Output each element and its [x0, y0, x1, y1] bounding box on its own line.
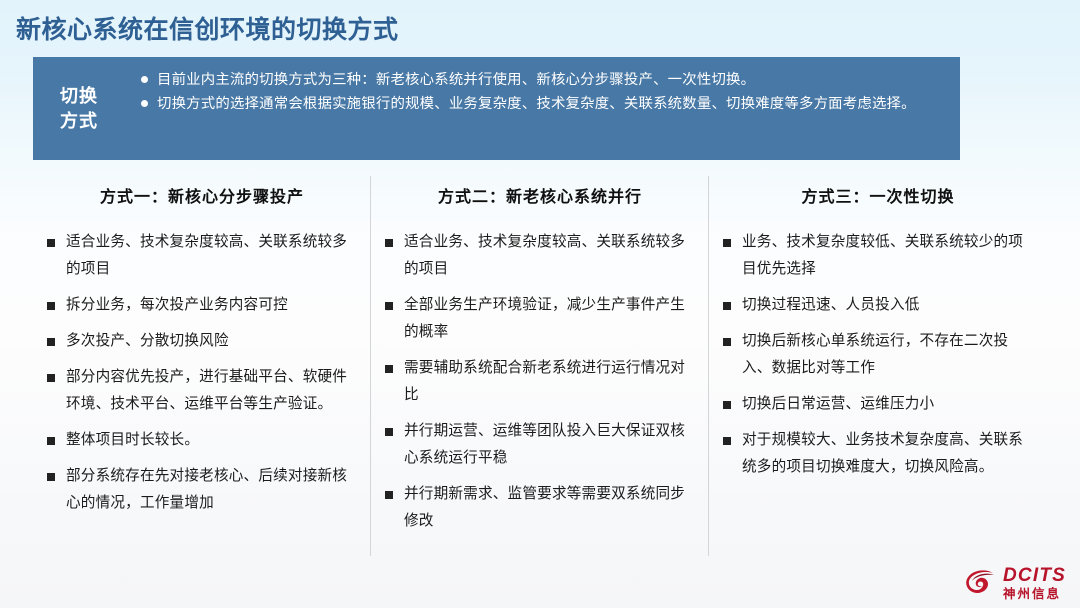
square-bullet-icon — [47, 302, 55, 310]
list-item-text: 整体项目时长较长。 — [66, 427, 357, 454]
list-item: 切换后日常运营、运维压力小 — [723, 391, 1033, 418]
list-item: 部分内容优先投产，进行基础平台、软硬件环境、技术平台、运维平台等生产验证。 — [47, 364, 357, 418]
list-item-text: 多次投产、分散切换风险 — [66, 328, 357, 355]
bullet-list: 业务、技术复杂度较低、关联系统较少的项目优先选择 切换过程迅速、人员投入低 切换… — [723, 229, 1033, 481]
column-heading: 方式三：一次性切换 — [723, 183, 1033, 207]
list-item-text: 并行期运营、运维等团队投入巨大保证双核心系统运行平稳 — [404, 418, 695, 472]
square-bullet-icon — [47, 239, 55, 247]
page-title: 新核心系统在信创环境的切换方式 — [16, 10, 399, 46]
column-method-two: 方式二：新老核心系统并行 适合业务、技术复杂度较高、关联系统较多的项目 全部业务… — [371, 176, 709, 561]
logo-english-name: DCITS — [1003, 566, 1066, 585]
square-bullet-icon — [723, 239, 731, 247]
list-item: 拆分业务，每次投产业务内容可控 — [47, 292, 357, 319]
square-bullet-icon — [385, 239, 393, 247]
list-item: 多次投产、分散切换风险 — [47, 328, 357, 355]
list-item-text: 切换后日常运营、运维压力小 — [742, 391, 1033, 418]
banner-body: 目前业内主流的切换方式为三种：新老核心系统并行使用、新核心分步骤投产、一次性切换… — [125, 57, 960, 160]
banner-bullet-text: 切换方式的选择通常会根据实施银行的规模、业务复杂度、技术复杂度、关联系统数量、切… — [157, 92, 946, 116]
column-method-three: 方式三：一次性切换 业务、技术复杂度较低、关联系统较少的项目优先选择 切换过程迅… — [709, 176, 1047, 561]
logo-chinese-name: 神州信息 — [1003, 588, 1061, 601]
column-heading: 方式一：新核心分步骤投产 — [47, 183, 357, 207]
list-item-text: 切换过程迅速、人员投入低 — [742, 292, 1033, 319]
list-item-text: 适合业务、技术复杂度较高、关联系统较多的项目 — [66, 229, 357, 283]
square-bullet-icon — [385, 428, 393, 436]
list-item: 并行期新需求、监管要求等需要双系统同步修改 — [385, 481, 695, 535]
bullet-dot-icon — [141, 100, 148, 107]
list-item-text: 切换后新核心单系统运行，不存在二次投入、数据比对等工作 — [742, 328, 1033, 382]
list-item-text: 全部业务生产环境验证，减少生产事件产生的概率 — [404, 292, 695, 346]
list-item: 切换后新核心单系统运行，不存在二次投入、数据比对等工作 — [723, 328, 1033, 382]
square-bullet-icon — [47, 473, 55, 481]
banner-label-line-1: 切换 — [60, 84, 98, 108]
list-item-text: 并行期新需求、监管要求等需要双系统同步修改 — [404, 481, 695, 535]
list-item: 部分系统存在先对接老核心、后续对接新核心的情况，工作量增加 — [47, 463, 357, 517]
list-item: 需要辅助系统配合新老系统进行运行情况对比 — [385, 355, 695, 409]
list-item-text: 业务、技术复杂度较低、关联系统较少的项目优先选择 — [742, 229, 1033, 283]
square-bullet-icon — [385, 365, 393, 373]
square-bullet-icon — [723, 437, 731, 445]
list-item: 适合业务、技术复杂度较高、关联系统较多的项目 — [47, 229, 357, 283]
banner-bullet-text: 目前业内主流的切换方式为三种：新老核心系统并行使用、新核心分步骤投产、一次性切换… — [157, 68, 946, 92]
list-item-text: 部分内容优先投产，进行基础平台、软硬件环境、技术平台、运维平台等生产验证。 — [66, 364, 357, 418]
dcits-swirl-icon — [963, 566, 997, 600]
list-item: 并行期运营、运维等团队投入巨大保证双核心系统运行平稳 — [385, 418, 695, 472]
list-item: 业务、技术复杂度较低、关联系统较少的项目优先选择 — [723, 229, 1033, 283]
list-item-text: 对于规模较大、业务技术复杂度高、关联系统多的项目切换难度大，切换风险高。 — [742, 427, 1033, 481]
list-item: 适合业务、技术复杂度较高、关联系统较多的项目 — [385, 229, 695, 283]
list-item-text: 需要辅助系统配合新老系统进行运行情况对比 — [404, 355, 695, 409]
square-bullet-icon — [47, 437, 55, 445]
square-bullet-icon — [385, 302, 393, 310]
bullet-dot-icon — [141, 76, 148, 83]
list-item: 全部业务生产环境验证，减少生产事件产生的概率 — [385, 292, 695, 346]
company-logo: DCITS 神州信息 — [963, 566, 1066, 601]
banner-label: 切换 方式 — [33, 57, 125, 160]
comparison-columns: 方式一：新核心分步骤投产 适合业务、技术复杂度较高、关联系统较多的项目 拆分业务… — [33, 176, 1047, 561]
square-bullet-icon — [723, 401, 731, 409]
column-heading: 方式二：新老核心系统并行 — [385, 183, 695, 207]
banner-bullet-item: 目前业内主流的切换方式为三种：新老核心系统并行使用、新核心分步骤投产、一次性切换… — [141, 68, 946, 92]
list-item-text: 部分系统存在先对接老核心、后续对接新核心的情况，工作量增加 — [66, 463, 357, 517]
square-bullet-icon — [723, 302, 731, 310]
square-bullet-icon — [47, 338, 55, 346]
square-bullet-icon — [723, 338, 731, 346]
list-item: 对于规模较大、业务技术复杂度高、关联系统多的项目切换难度大，切换风险高。 — [723, 427, 1033, 481]
square-bullet-icon — [385, 491, 393, 499]
square-bullet-icon — [47, 374, 55, 382]
column-method-one: 方式一：新核心分步骤投产 适合业务、技术复杂度较高、关联系统较多的项目 拆分业务… — [33, 176, 371, 561]
list-item: 切换过程迅速、人员投入低 — [723, 292, 1033, 319]
banner-bullet-item: 切换方式的选择通常会根据实施银行的规模、业务复杂度、技术复杂度、关联系统数量、切… — [141, 92, 946, 116]
banner-label-line-2: 方式 — [60, 109, 98, 133]
list-item: 整体项目时长较长。 — [47, 427, 357, 454]
list-item-text: 适合业务、技术复杂度较高、关联系统较多的项目 — [404, 229, 695, 283]
bullet-list: 适合业务、技术复杂度较高、关联系统较多的项目 全部业务生产环境验证，减少生产事件… — [385, 229, 695, 535]
list-item-text: 拆分业务，每次投产业务内容可控 — [66, 292, 357, 319]
logo-text: DCITS 神州信息 — [1003, 566, 1066, 601]
bullet-list: 适合业务、技术复杂度较高、关联系统较多的项目 拆分业务，每次投产业务内容可控 多… — [47, 229, 357, 517]
summary-banner: 切换 方式 目前业内主流的切换方式为三种：新老核心系统并行使用、新核心分步骤投产… — [33, 57, 960, 160]
